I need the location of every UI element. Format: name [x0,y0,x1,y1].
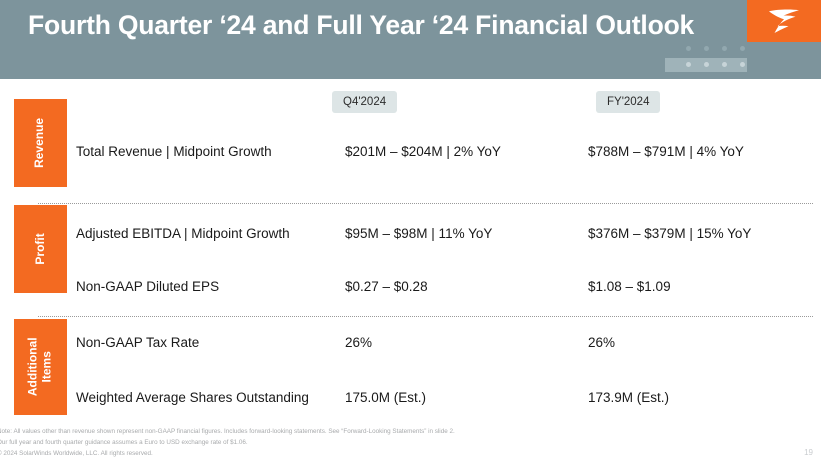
row-value-fy: $1.08 – $1.09 [588,279,671,294]
dot [740,62,745,67]
table-row: Non-GAAP Tax Rate 26% 26% [0,335,821,355]
page-number: 19 [804,448,813,457]
column-header-fy: FY'2024 [596,91,660,113]
row-label: Total Revenue | Midpoint Growth [76,144,272,159]
row-label: Weighted Average Shares Outstanding [76,390,309,405]
footnote-line-2: Our full year and fourth quarter guidanc… [0,438,537,449]
copyright-notice: © 2024 SolarWinds Worldwide, LLC. All ri… [0,450,153,457]
dot [704,62,709,67]
row-value-fy: 173.9M (Est.) [588,390,669,405]
category-block-revenue: Revenue [14,99,67,187]
table-row: Non-GAAP Diluted EPS $0.27 – $0.28 $1.08… [0,279,821,299]
row-label: Adjusted EBITDA | Midpoint Growth [76,226,290,241]
slide-header-band: Fourth Quarter ‘24 and Full Year ‘24 Fin… [0,0,821,79]
dot [722,62,727,67]
table-row: Weighted Average Shares Outstanding 175.… [0,390,821,410]
row-value-q4: $201M – $204M | 2% YoY [345,144,501,159]
table-row: Adjusted EBITDA | Midpoint Growth $95M –… [0,226,821,246]
dot [704,46,709,51]
dot [740,46,745,51]
solarwinds-logo [747,0,821,42]
section-divider [38,203,813,204]
row-label: Non-GAAP Diluted EPS [76,279,219,294]
row-value-fy: 26% [588,335,615,350]
row-label: Non-GAAP Tax Rate [76,335,199,350]
section-divider [38,316,813,317]
row-value-q4: $0.27 – $0.28 [345,279,428,294]
decorative-dot-row-bottom [686,62,745,67]
footnote-line-1: Note: All values other than revenue show… [0,427,537,438]
column-header-q4: Q4'2024 [332,91,397,113]
table-row: Total Revenue | Midpoint Growth $201M – … [0,144,821,164]
dot [722,46,727,51]
row-value-q4: 26% [345,335,372,350]
row-value-q4: 175.0M (Est.) [345,390,426,405]
dot [686,46,691,51]
page-title: Fourth Quarter ‘24 and Full Year ‘24 Fin… [28,10,694,41]
decorative-dot-row-top [686,46,745,51]
row-value-q4: $95M – $98M | 11% YoY [345,226,492,241]
row-value-fy: $376M – $379M | 15% YoY [588,226,751,241]
dot [686,62,691,67]
row-value-fy: $788M – $791M | 4% YoY [588,144,744,159]
solarwinds-swoosh-icon [767,8,801,34]
footnotes: Note: All values other than revenue show… [0,427,537,448]
